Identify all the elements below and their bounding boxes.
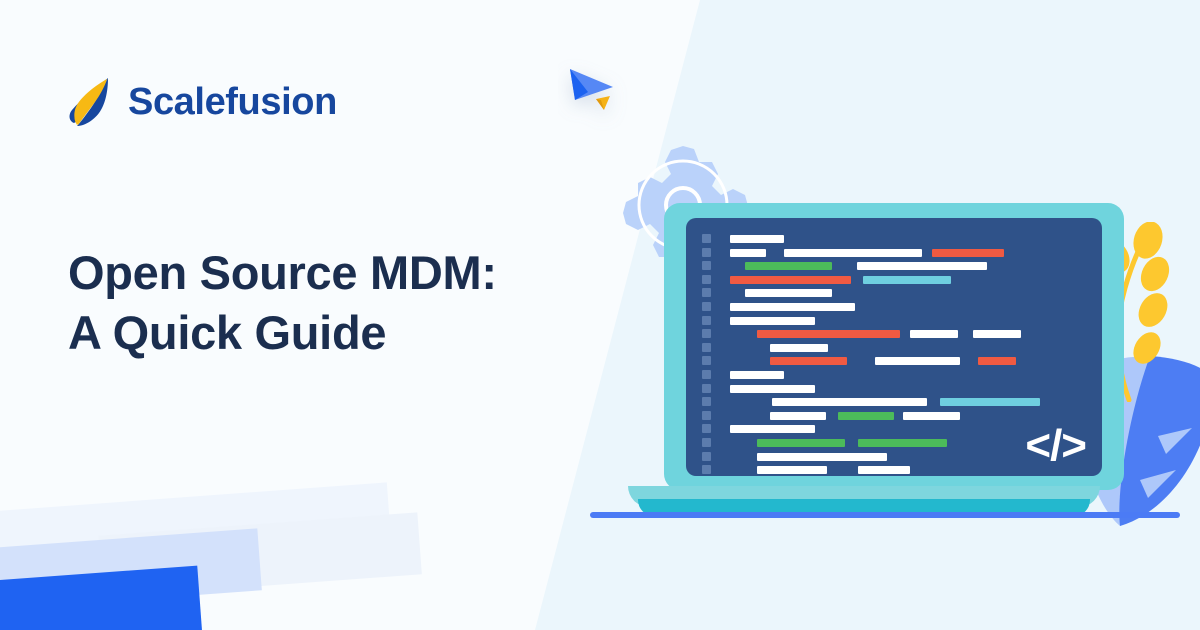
code-token-white (772, 398, 927, 406)
code-token-white (730, 303, 855, 311)
code-token-white (973, 330, 1021, 338)
scalefusion-leaf-mark-icon (66, 76, 112, 128)
laptop-bezel: </> (664, 203, 1124, 490)
gutter-dot (702, 397, 711, 406)
code-line (730, 370, 1094, 384)
code-line (730, 316, 1094, 330)
gutter-dot (702, 452, 711, 461)
gutter-dot (702, 275, 711, 284)
gutter-dot (702, 356, 711, 365)
banner-canvas: Scalefusion Open Source MDM: A Quick Gui… (0, 0, 1200, 630)
code-token-white (757, 466, 827, 474)
code-token-white (784, 249, 922, 257)
code-token-white (730, 425, 815, 433)
code-line (730, 384, 1094, 398)
gutter-dot (702, 438, 711, 447)
code-token-green (757, 439, 845, 447)
ground-line (590, 512, 1180, 518)
gutter-dot (702, 465, 711, 474)
code-line (730, 234, 1094, 248)
code-line (730, 248, 1094, 262)
code-token-white (857, 262, 987, 270)
code-token-green (745, 262, 832, 270)
code-token-white (858, 466, 910, 474)
gutter-dot (702, 261, 711, 270)
gutter-dot (702, 248, 711, 257)
code-glyph-icon: </> (1025, 424, 1086, 468)
gutter-dot (702, 302, 711, 311)
code-token-white (745, 289, 832, 297)
code-token-white (770, 344, 828, 352)
editor-gutter (702, 234, 711, 476)
code-line (730, 343, 1094, 357)
page-title-line2: A Quick Guide (68, 303, 538, 363)
gutter-dot (702, 411, 711, 420)
code-token-white (910, 330, 958, 338)
code-editor-screen: </> (686, 218, 1102, 476)
code-line (730, 302, 1094, 316)
page-title: Open Source MDM: A Quick Guide (68, 243, 538, 363)
code-token-red (770, 357, 847, 365)
gutter-dot (702, 329, 711, 338)
code-token-red (730, 276, 851, 284)
code-token-white (730, 371, 784, 379)
gutter-dot (702, 424, 711, 433)
code-token-white (730, 249, 766, 257)
code-token-cyan (863, 276, 951, 284)
code-token-white (903, 412, 960, 420)
code-line (730, 288, 1094, 302)
code-line (730, 329, 1094, 343)
gutter-dot (702, 234, 711, 243)
gutter-dot (702, 343, 711, 352)
code-token-red (757, 330, 900, 338)
code-token-red (932, 249, 1004, 257)
code-token-white (730, 385, 815, 393)
code-token-white (730, 235, 784, 243)
code-token-white (770, 412, 826, 420)
brand-logo[interactable]: Scalefusion (66, 76, 337, 128)
code-line (730, 275, 1094, 289)
code-token-cyan (940, 398, 1040, 406)
code-token-green (838, 412, 894, 420)
laptop-device: </> (628, 203, 1100, 523)
paper-plane-icon (558, 55, 648, 145)
code-token-white (875, 357, 960, 365)
page-title-line1: Open Source MDM: (68, 246, 497, 299)
code-line (730, 261, 1094, 275)
gutter-dot (702, 384, 711, 393)
code-line (730, 356, 1094, 370)
gutter-dot (702, 370, 711, 379)
brand-name: Scalefusion (128, 83, 337, 121)
code-token-white (757, 453, 887, 461)
code-token-white (730, 317, 815, 325)
code-line (730, 397, 1094, 411)
code-token-green (858, 439, 947, 447)
code-token-red (978, 357, 1016, 365)
gutter-dot (702, 316, 711, 325)
gutter-dot (702, 288, 711, 297)
